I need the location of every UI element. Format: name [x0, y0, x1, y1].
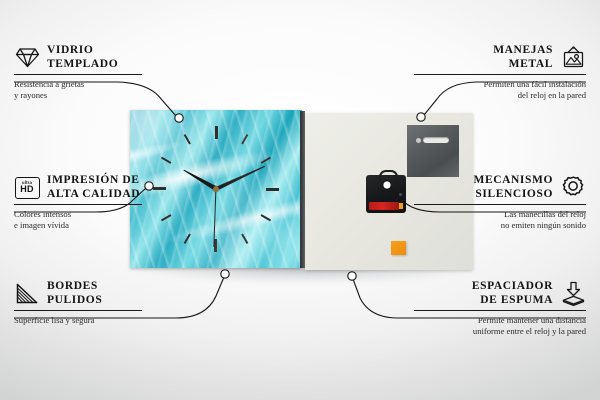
feature-title: MANEJAS METAL: [493, 44, 553, 71]
feature-divider: [14, 74, 142, 75]
ultra-hd-icon-main-label: HD: [20, 185, 33, 194]
feature-vidrio-templado: VIDRIO TEMPLADO Resistencia a grietas y …: [14, 44, 142, 100]
feature-bordes-pulidos: BORDES PULIDOS Superficie lisa y segura: [14, 280, 142, 326]
feature-header: VIDRIO TEMPLADO: [14, 44, 142, 71]
feature-title: BORDES PULIDOS: [47, 280, 102, 307]
feature-header: ESPACIADOR DE ESPUMA: [414, 280, 586, 307]
feature-description: Las manecillas del reloj no emiten ningú…: [414, 209, 586, 230]
battery: [369, 202, 399, 210]
hanger-keyhole-slot: [423, 137, 449, 143]
feature-divider: [14, 204, 142, 205]
feature-header: MECANISMO SILENCIOSO: [414, 174, 586, 201]
feature-divider: [414, 204, 586, 205]
product-feature-infographic: VIDRIO TEMPLADO Resistencia a grietas y …: [0, 0, 600, 400]
feature-description: Permite mantener una distancia uniforme …: [414, 315, 586, 336]
movement-hanging-loop: [379, 170, 398, 180]
glass-reflection: [130, 110, 302, 268]
bevelled-edge-icon: [14, 281, 40, 307]
feature-title: ESPACIADOR DE ESPUMA: [472, 280, 553, 307]
feature-title: MECANISMO SILENCIOSO: [473, 174, 553, 201]
movement-screw: [399, 193, 402, 196]
feature-divider: [414, 310, 586, 311]
feature-description: Colores intensos e imagen vívida: [14, 209, 142, 230]
feature-title: IMPRESIÓN DE ALTA CALIDAD: [47, 174, 140, 201]
ultra-hd-icon: ultra HD: [14, 175, 40, 201]
feature-description: Resistencia a grietas y rayones: [14, 79, 142, 100]
feature-mecanismo-silencioso: MECANISMO SILENCIOSO Las manecillas del …: [414, 174, 586, 230]
feature-divider: [14, 310, 142, 311]
feature-divider: [414, 74, 586, 75]
metal-hanger-plate: [407, 125, 459, 177]
feature-header: ultra HD IMPRESIÓN DE ALTA CALIDAD: [14, 174, 142, 201]
feature-description: Permiten una fácil instalación del reloj…: [414, 79, 586, 100]
arrow-onto-pad-icon: [560, 281, 586, 307]
feature-title: VIDRIO TEMPLADO: [47, 44, 118, 71]
gear-icon: [560, 175, 586, 201]
feature-header: MANEJAS METAL: [414, 44, 586, 71]
feature-description: Superficie lisa y segura: [14, 315, 142, 326]
clock-front-face: [130, 110, 302, 268]
feature-espaciador-espuma: ESPACIADOR DE ESPUMA Permite mantener un…: [414, 280, 586, 336]
foam-spacer-pad: [391, 241, 406, 255]
diamond-icon: [14, 45, 40, 71]
clock-movement-module: [366, 175, 406, 213]
feature-header: BORDES PULIDOS: [14, 280, 142, 307]
feature-manejas-metal: MANEJAS METAL Permiten una fácil instala…: [414, 44, 586, 100]
picture-frame-hanger-icon: [560, 45, 586, 71]
feature-impresion-alta-calidad: ultra HD IMPRESIÓN DE ALTA CALIDAD Color…: [14, 174, 142, 230]
